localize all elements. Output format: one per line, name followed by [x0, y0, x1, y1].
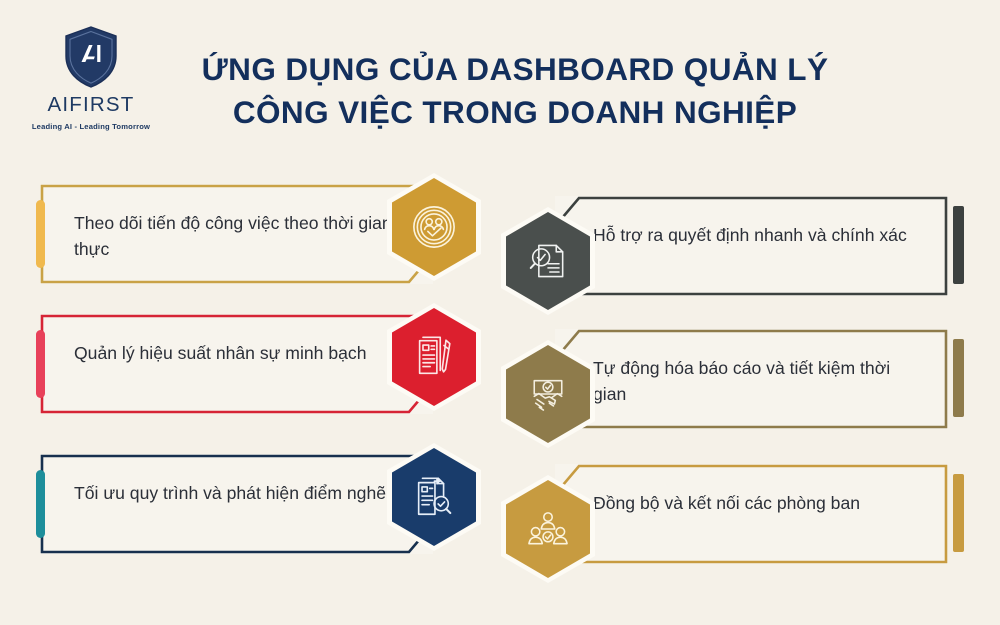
- benefit-text: Quản lý hiệu suất nhân sự minh bạch: [74, 340, 404, 366]
- logo-wordmark: AIFIRST: [22, 93, 160, 117]
- benefit-item: Theo dõi tiến độ công việc theo thời gia…: [28, 172, 488, 300]
- brand-logo: AIFIRST Leading AI - Leading Tomorrow: [22, 26, 160, 131]
- page-title-line-1: ỨNG DỤNG CỦA DASHBOARD QUẢN LÝ: [165, 48, 865, 91]
- benefit-hexagon: [386, 442, 482, 552]
- benefit-hexagon: [500, 206, 596, 316]
- benefit-text: Theo dõi tiến độ công việc theo thời gia…: [74, 210, 404, 262]
- benefit-accent-bar: [953, 474, 964, 552]
- benefit-accent-bar: [953, 206, 964, 284]
- benefit-hexagon: [386, 172, 482, 282]
- logo-tagline: Leading AI - Leading Tomorrow: [22, 122, 160, 131]
- page-title: ỨNG DỤNG CỦA DASHBOARD QUẢN LÝ CÔNG VIỆC…: [165, 48, 865, 134]
- benefit-box[interactable]: Theo dõi tiến độ công việc theo thời gia…: [40, 184, 433, 284]
- benefit-hexagon: [386, 302, 482, 412]
- benefit-accent-bar: [36, 200, 45, 268]
- users-check-badge-icon: [411, 204, 457, 250]
- benefit-hexagon: [500, 339, 596, 449]
- benefit-text: Hỗ trợ ra quyết định nhanh và chính xác: [593, 222, 923, 248]
- document-pencil-icon: [411, 334, 457, 380]
- handshake-check-icon: [526, 372, 570, 416]
- benefits-board: Theo dõi tiến độ công việc theo thời gia…: [0, 160, 1000, 625]
- benefit-box[interactable]: Tối ưu quy trình và phát hiện điểm nghẽn: [40, 454, 433, 554]
- page-title-line-2: CÔNG VIỆC TRONG DOANH NGHIỆP: [165, 91, 865, 134]
- benefit-item: Hỗ trợ ra quyết định nhanh và chính xác: [500, 184, 960, 312]
- benefit-accent-bar: [36, 470, 45, 538]
- header: AIFIRST Leading AI - Leading Tomorrow ỨN…: [0, 0, 1000, 160]
- shield-ai-icon: [63, 26, 119, 88]
- benefit-hexagon: [500, 474, 596, 584]
- benefit-text: Tự động hóa báo cáo và tiết kiệm thời gi…: [593, 355, 923, 407]
- benefit-box[interactable]: Hỗ trợ ra quyết định nhanh và chính xác: [555, 196, 948, 296]
- benefit-text: Tối ưu quy trình và phát hiện điểm nghẽn: [74, 480, 404, 506]
- benefit-text: Đồng bộ và kết nối các phòng ban: [593, 490, 923, 516]
- benefit-item: Tối ưu quy trình và phát hiện điểm nghẽn: [28, 442, 488, 570]
- benefit-box[interactable]: Đồng bộ và kết nối các phòng ban: [555, 464, 948, 564]
- team-group-check-icon: [526, 507, 570, 551]
- benefit-accent-bar: [36, 330, 45, 398]
- document-magnifier-check-icon: [526, 239, 570, 283]
- benefit-item: Đồng bộ và kết nối các phòng ban: [500, 452, 960, 580]
- benefit-item: Quản lý hiệu suất nhân sự minh bạch: [28, 302, 488, 430]
- benefit-accent-bar: [953, 339, 964, 417]
- document-plus-check-icon: [411, 474, 457, 520]
- benefit-box[interactable]: Quản lý hiệu suất nhân sự minh bạch: [40, 314, 433, 414]
- benefit-item: Tự động hóa báo cáo và tiết kiệm thời gi…: [500, 317, 960, 445]
- benefit-box[interactable]: Tự động hóa báo cáo và tiết kiệm thời gi…: [555, 329, 948, 429]
